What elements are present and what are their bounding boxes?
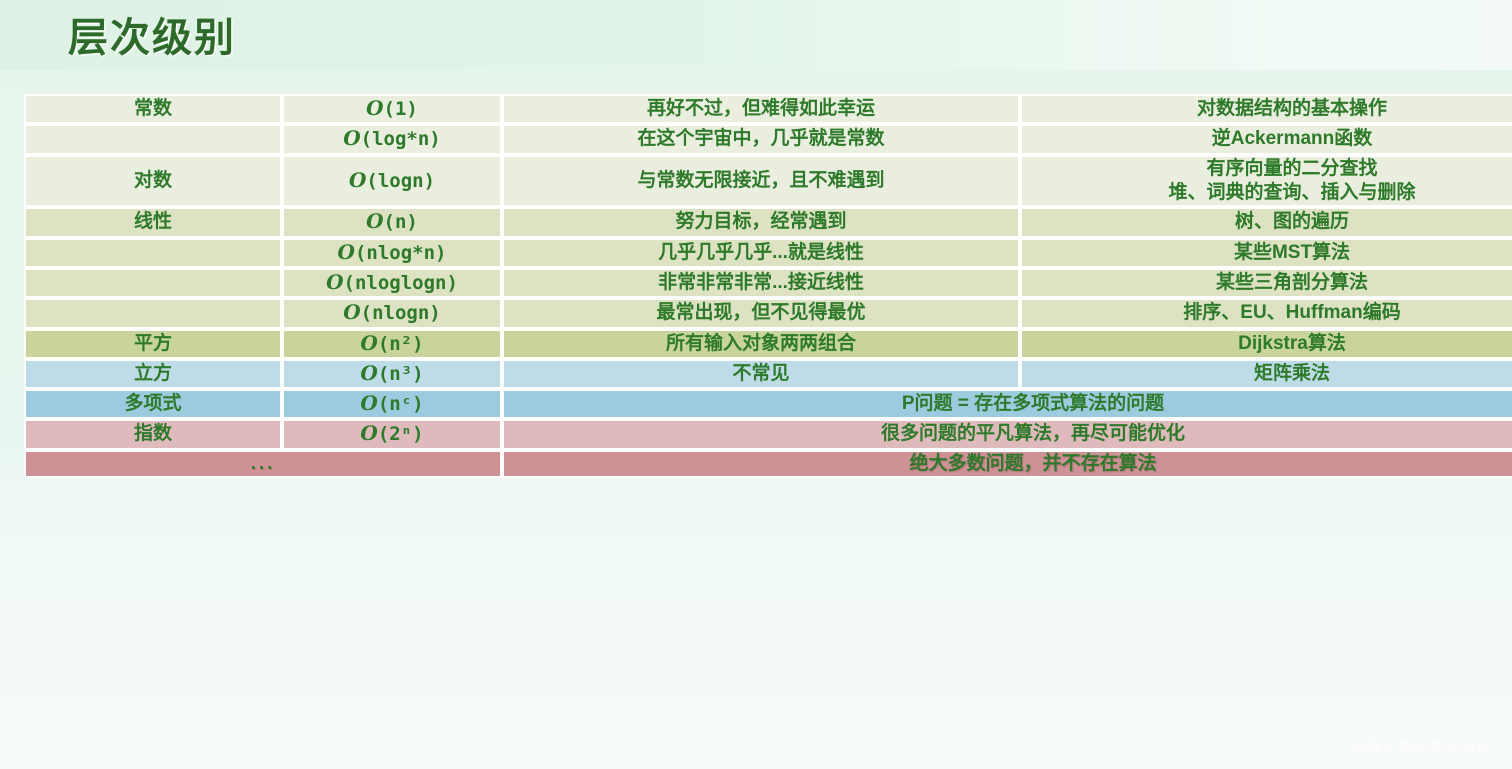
cell-merged-note: 绝大多数问题，并不存在算法 <box>502 450 1512 478</box>
instances-line-2: 堆、词典的查询、插入与删除 <box>1030 181 1512 205</box>
cell-complexity-order: O(log*n) <box>282 124 502 154</box>
table-row: 平方 O(n²) 所有输入对象两两组合 Dijkstra算法 <box>24 329 1512 359</box>
cell-description: 几乎几乎几乎...就是线性 <box>502 238 1020 268</box>
table-row: 线性 O(n) 努力目标，经常遇到 树、图的遍历 <box>24 207 1512 237</box>
cell-description: 在这个宇宙中，几乎就是常数 <box>502 124 1020 154</box>
table-row: O(nlog*n) 几乎几乎几乎...就是线性 某些MST算法 <box>24 238 1512 268</box>
order-text: (n) <box>384 211 418 233</box>
cell-description: 非常非常非常...接近线性 <box>502 268 1020 298</box>
cell-level-name: 线性 <box>24 207 282 237</box>
cell-level-name <box>24 298 282 328</box>
table-row: 对数 O(logn) 与常数无限接近，且不难遇到 有序向量的二分查找 堆、词典的… <box>24 155 1512 208</box>
cell-level-name: 指数 <box>24 419 282 449</box>
cell-level-name <box>24 124 282 154</box>
table-row: 常数 O(1) 再好不过，但难得如此幸运 对数据结构的基本操作 <box>24 94 1512 124</box>
cell-complexity-order: O(n²) <box>282 329 502 359</box>
order-text: (nlogn) <box>361 302 441 324</box>
table-row: O(nlogn) 最常出现，但不见得最优 排序、EU、Huffman编码 <box>24 298 1512 328</box>
cell-instances: 某些MST算法 <box>1020 238 1512 268</box>
cell-level-name: 对数 <box>24 155 282 208</box>
table-row: 立方 O(n³) 不常见 矩阵乘法 <box>24 359 1512 389</box>
order-text: (n²) <box>378 333 424 355</box>
cell-complexity-order: O(nᶜ) <box>282 389 502 419</box>
header-band: 层次级别 <box>0 0 1512 70</box>
cell-level-name: 常数 <box>24 94 282 124</box>
cell-instances: Dijkstra算法 <box>1020 329 1512 359</box>
cell-description: 所有输入对象两两组合 <box>502 329 1020 359</box>
table-row: 指数 O(2ⁿ) 很多问题的平凡算法，再尽可能优化 <box>24 419 1512 449</box>
slide-canvas: 层次级别 常数 O(1) 再好不过，但难得如此幸运 对数据结构的基本操作 O(l… <box>0 0 1512 769</box>
cell-instances: 有序向量的二分查找 堆、词典的查询、插入与删除 <box>1020 155 1512 208</box>
cell-merged-note: 很多问题的平凡算法，再尽可能优化 <box>502 419 1512 449</box>
cell-instances: 对数据结构的基本操作 <box>1020 94 1512 124</box>
order-text: (1) <box>384 98 418 120</box>
cell-level-name: 多项式 <box>24 389 282 419</box>
order-text: (2ⁿ) <box>378 423 424 445</box>
cell-complexity-order: O(2ⁿ) <box>282 419 502 449</box>
cell-description: 最常出现，但不见得最优 <box>502 298 1020 328</box>
cell-complexity-order: O(nlog*n) <box>282 238 502 268</box>
page-title: 层次级别 <box>68 5 236 63</box>
cell-merged-note: P问题 = 存在多项式算法的问题 <box>502 389 1512 419</box>
cell-complexity-order: O(1) <box>282 94 502 124</box>
cell-description: 与常数无限接近，且不难遇到 <box>502 155 1020 208</box>
cell-instances: 逆Ackermann函数 <box>1020 124 1512 154</box>
cell-complexity-order: O(n) <box>282 207 502 237</box>
table-row: 多项式 O(nᶜ) P问题 = 存在多项式算法的问题 <box>24 389 1512 419</box>
cell-complexity-order: O(nlogn) <box>282 298 502 328</box>
cell-level-name <box>24 238 282 268</box>
cell-complexity-order: O(nloglogn) <box>282 268 502 298</box>
cell-level-name: 立方 <box>24 359 282 389</box>
complexity-levels-table: 常数 O(1) 再好不过，但难得如此幸运 对数据结构的基本操作 O(log*n)… <box>24 94 1512 478</box>
instances-line-1: 有序向量的二分查找 <box>1030 157 1512 181</box>
order-text: (nᶜ) <box>378 393 424 415</box>
cell-description: 再好不过，但难得如此幸运 <box>502 94 1020 124</box>
table-row: O(nloglogn) 非常非常非常...接近线性 某些三角剖分算法 <box>24 268 1512 298</box>
cell-level-name <box>24 268 282 298</box>
cell-level-name: ... <box>24 450 502 478</box>
cell-instances: 某些三角剖分算法 <box>1020 268 1512 298</box>
cell-instances: 排序、EU、Huffman编码 <box>1020 298 1512 328</box>
order-text: (nlog*n) <box>355 242 447 264</box>
cell-description: 努力目标，经常遇到 <box>502 207 1020 237</box>
cell-instances: 矩阵乘法 <box>1020 359 1512 389</box>
order-text: (log*n) <box>361 128 441 150</box>
cell-level-name: 平方 <box>24 329 282 359</box>
cell-complexity-order: O(n³) <box>282 359 502 389</box>
order-text: (logn) <box>366 170 435 192</box>
cell-description: 不常见 <box>502 359 1020 389</box>
watermark: @稀土掘金技术社区 <box>1350 736 1494 757</box>
table-row: O(log*n) 在这个宇宙中，几乎就是常数 逆Ackermann函数 <box>24 124 1512 154</box>
order-text: (n³) <box>378 363 424 385</box>
table-row: ... 绝大多数问题，并不存在算法 <box>24 450 1512 478</box>
cell-instances: 树、图的遍历 <box>1020 207 1512 237</box>
cell-complexity-order: O(logn) <box>282 155 502 208</box>
order-text: (nloglogn) <box>344 272 458 294</box>
